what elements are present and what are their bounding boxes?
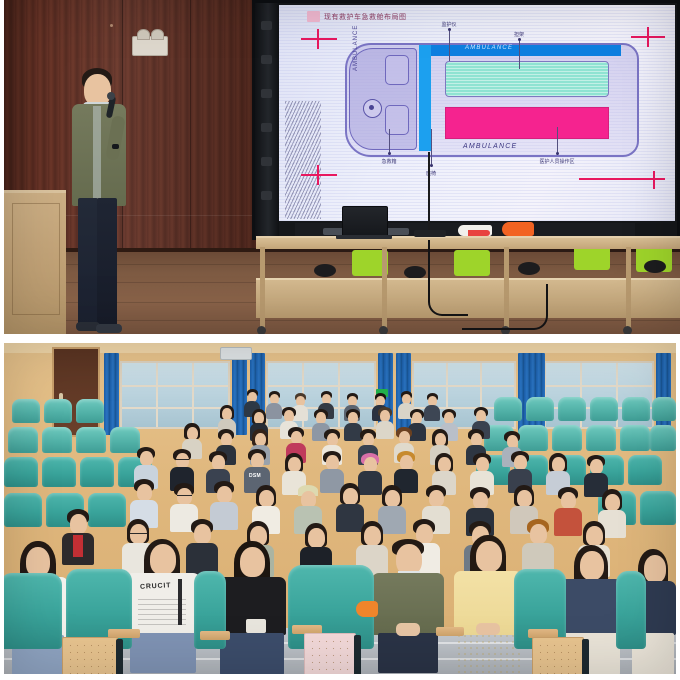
ceiling-trim: [4, 343, 676, 353]
slide-title-text: 现有救护车急救舱布局图: [324, 12, 407, 22]
ambulance-side-wordmark: AMBULANCE: [353, 25, 359, 71]
desk-caster: [257, 326, 266, 334]
chair-base: [518, 262, 540, 275]
curtain: [104, 353, 119, 435]
hall-door: [52, 347, 100, 437]
collage-divider: [0, 334, 680, 343]
photo-collage-page: 现有救护车急救舱布局图: [0, 0, 680, 680]
shirt-text-dsm: DSM: [249, 473, 261, 479]
ambulance-green-zone: [445, 61, 609, 97]
clasped-hands: [476, 623, 500, 635]
slide-title-chip: [307, 11, 320, 22]
ambulance-bottom-wordmark: AMBULANCE: [463, 143, 517, 150]
projector-screen: 现有救护车急救舱布局图: [252, 0, 680, 240]
seat-tablet-panel: [62, 637, 118, 674]
auditorium-audience-photo: DSM: [4, 343, 676, 674]
ambulance-steering-wheel-icon: [363, 99, 382, 118]
slide-surface: 现有救护车急救舱布局图: [279, 5, 675, 221]
slide-hatch-texture: [285, 101, 321, 219]
ambulance-pink-zone: [445, 107, 609, 139]
desk-leg: [626, 247, 631, 331]
wall-marker-dot: [110, 24, 113, 27]
presenter-leg-right: [97, 198, 117, 326]
bag-strap: [178, 579, 182, 625]
chair-base: [314, 264, 336, 277]
presenter: [66, 68, 130, 334]
wristwatch-icon: [112, 144, 119, 149]
window-left: [120, 361, 230, 429]
presenter-shoe-right: [96, 324, 122, 333]
curtain: [656, 353, 671, 435]
desk-caster: [623, 326, 632, 334]
audience-person: [376, 407, 394, 437]
front-row-person-black-top: [216, 541, 288, 674]
air-conditioner-unit: [220, 347, 252, 360]
ambulance-blue-top-rail: [431, 45, 621, 56]
white-shoe-item: [458, 225, 492, 236]
screen-bezel: [255, 3, 279, 237]
left-cabinet: [4, 190, 66, 334]
front-row-person-olive-jacket: [372, 539, 444, 674]
presenter-jacket-zip: [93, 106, 101, 204]
microphone-base: [414, 230, 446, 237]
ambulance-blue-side-strip: [419, 45, 431, 151]
microphone-head-icon: [107, 92, 115, 100]
ambulance-top-wordmark: AMBULANCE: [465, 45, 513, 51]
seat-tablet-panel: [532, 637, 584, 674]
audience-person: [522, 519, 554, 573]
microphone-stand: [428, 152, 430, 236]
desk-caster: [379, 326, 388, 334]
desk-surface: [256, 236, 680, 249]
laptop-icon: [342, 206, 388, 238]
orange-shoe-item: [502, 222, 534, 236]
emergency-lamp: [151, 29, 164, 40]
curtain: [530, 353, 545, 435]
clasped-hands: [396, 623, 420, 636]
front-row-person-graphic-sweatshirt: CRUCIT: [126, 539, 200, 674]
audience-person: [424, 393, 440, 419]
seat-tablet-panel-pink: [304, 633, 356, 674]
chair-base: [644, 260, 666, 273]
podium-desk-row: [256, 222, 680, 334]
desk-leg: [382, 247, 387, 331]
power-cable: [462, 284, 548, 330]
ambulance-driver-seat: [385, 55, 409, 85]
laptop-base: [336, 235, 392, 239]
red-inner-shirt: [73, 535, 83, 557]
emergency-light-icon: [132, 36, 168, 56]
lecture-presenter-photo: 现有救护车急救舱布局图: [4, 0, 680, 334]
slide-title: 现有救护车急救舱布局图: [307, 11, 407, 22]
desk-leg: [260, 247, 265, 331]
emergency-lamp: [137, 29, 150, 40]
orange-bag: [356, 601, 378, 617]
presenter-leg-left: [78, 198, 98, 326]
held-booklet: [246, 619, 266, 633]
